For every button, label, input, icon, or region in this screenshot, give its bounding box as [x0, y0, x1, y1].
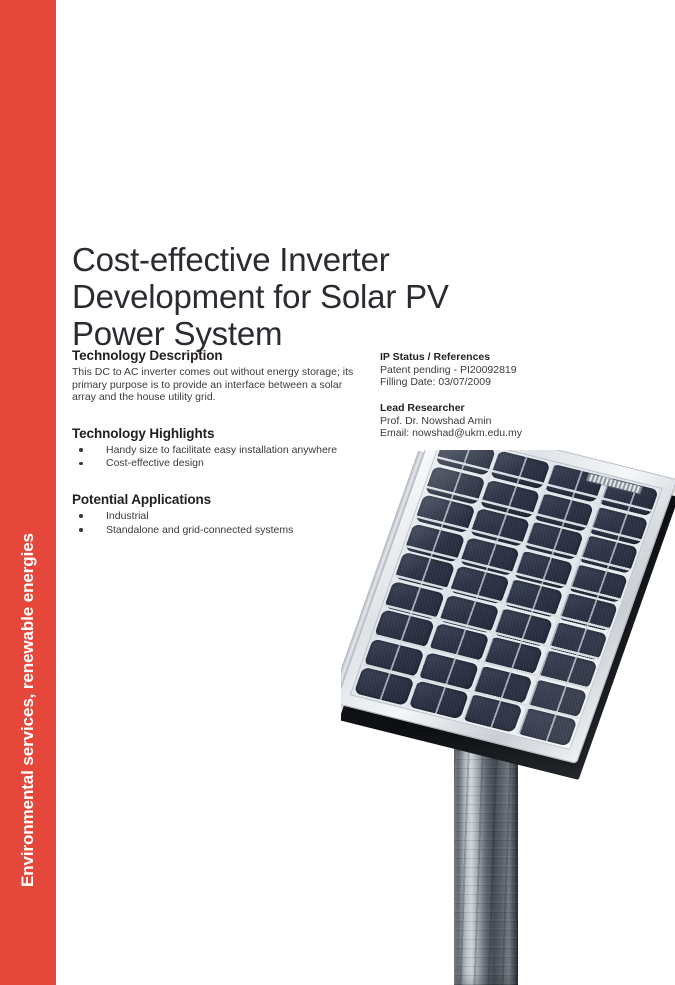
- sidebar-category-label: Environmental services, renewable energi…: [18, 533, 38, 887]
- bullet-icon: [79, 528, 83, 532]
- technology-description-heading: Technology Description: [72, 348, 360, 363]
- list-item: Handy size to facilitate easy installati…: [72, 444, 360, 457]
- page-content: Cost-effective Inverter Development for …: [56, 0, 675, 985]
- technology-highlights-list: Handy size to facilitate easy installati…: [72, 444, 360, 470]
- researcher-name-text: Prof. Dr. Nowshad Amin: [380, 415, 630, 427]
- researcher-email-text: Email: nowshad@ukm.edu.my: [380, 427, 630, 439]
- filing-date-text: Filling Date: 03/07/2009: [380, 376, 630, 388]
- list-item-label: Standalone and grid-connected systems: [106, 524, 293, 536]
- page-title: Cost-effective Inverter Development for …: [72, 241, 502, 352]
- left-text-column: Technology Description This DC to AC inv…: [72, 348, 360, 537]
- potential-applications-heading: Potential Applications: [72, 492, 360, 507]
- list-item: Standalone and grid-connected systems: [72, 524, 360, 537]
- page-title-line-1: Cost-effective Inverter: [72, 241, 390, 278]
- technology-description-text: This DC to AC inverter comes out without…: [72, 366, 360, 404]
- technology-highlights-heading: Technology Highlights: [72, 426, 360, 441]
- list-item-label: Handy size to facilitate easy installati…: [106, 444, 337, 456]
- list-item: Cost-effective design: [72, 457, 360, 470]
- panel-aluminium-frame: [341, 450, 675, 763]
- list-item-label: Cost-effective design: [106, 457, 204, 469]
- patent-number-text: Patent pending - PI20092819: [380, 364, 630, 376]
- solar-panel: [341, 450, 675, 800]
- sidebar-category-band: Environmental services, renewable energi…: [0, 0, 56, 985]
- bullet-icon: [79, 514, 83, 518]
- list-item-label: Industrial: [106, 510, 149, 522]
- page-title-line-2: Development for Solar PV: [72, 278, 449, 315]
- ip-status-block: IP Status / References Patent pending - …: [380, 351, 630, 389]
- bullet-icon: [79, 462, 83, 466]
- right-meta-column: IP Status / References Patent pending - …: [380, 351, 630, 440]
- lead-researcher-block: Lead Researcher Prof. Dr. Nowshad Amin E…: [380, 402, 630, 440]
- mounting-pole: [454, 742, 518, 985]
- potential-applications-list: Industrial Standalone and grid-connected…: [72, 510, 360, 536]
- list-item: Industrial: [72, 510, 360, 523]
- lead-researcher-heading: Lead Researcher: [380, 402, 630, 414]
- solar-panel-photo: [341, 450, 675, 985]
- panel-glass-surface: [350, 450, 663, 750]
- ip-status-heading: IP Status / References: [380, 351, 630, 363]
- pv-cell-grid: [354, 450, 659, 747]
- bullet-icon: [79, 448, 83, 452]
- page-title-line-3: Power System: [72, 315, 282, 352]
